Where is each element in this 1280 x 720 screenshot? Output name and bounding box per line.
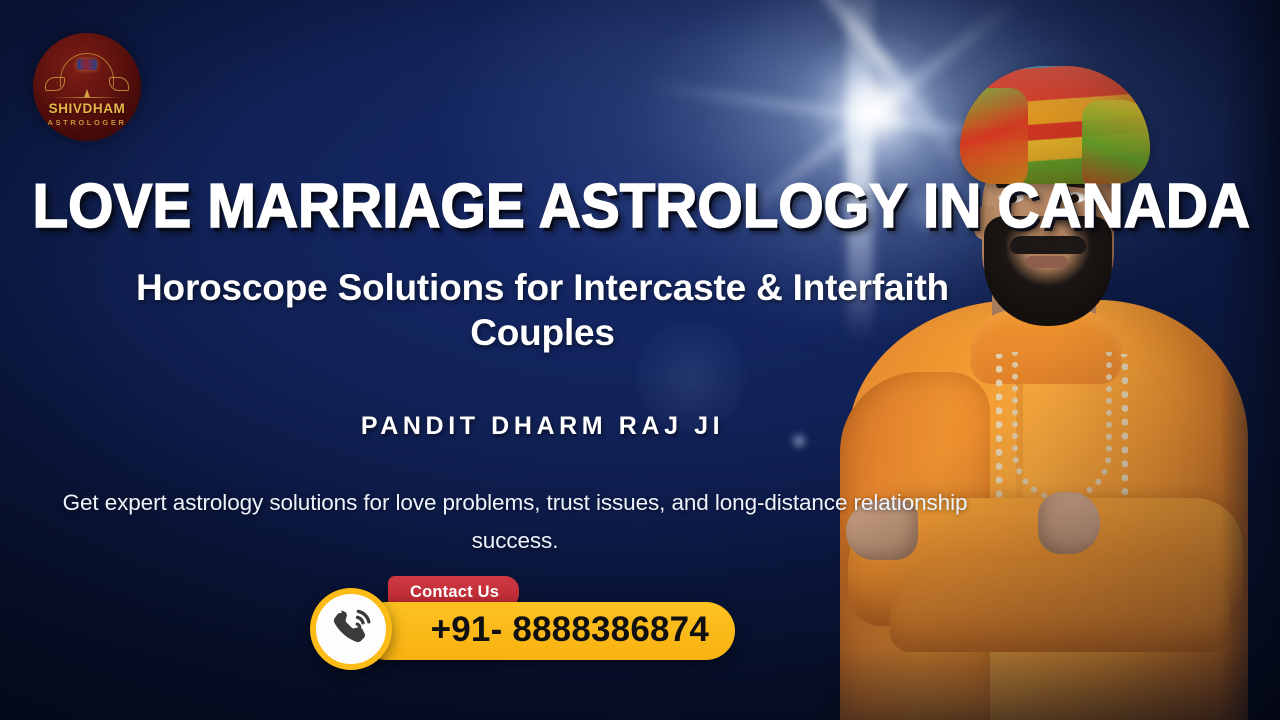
hero-description: Get expert astrology solutions for love … <box>50 484 980 561</box>
contact-cta[interactable]: Contact Us +91- 8888386874 <box>310 576 735 668</box>
phone-number-text: +91- 8888386874 <box>431 610 709 652</box>
logo-gem-icon <box>77 59 97 70</box>
logo-brand-subtitle: ASTROLOGER <box>33 118 141 127</box>
phone-number-pill[interactable]: +91- 8888386874 <box>358 602 735 660</box>
logo-brand-name: SHIVDHAM <box>33 101 141 116</box>
logo-divider <box>53 97 121 98</box>
astrologer-name: PANDIT DHARM RAJ JI <box>60 412 1025 441</box>
phone-call-icon[interactable] <box>310 588 392 670</box>
page-title: LOVE MARRIAGE ASTROLOGY IN CANADA <box>33 176 1053 238</box>
hero-banner: SHIVDHAM ASTROLOGER LOVE MARRIAGE ASTROL… <box>0 0 1280 720</box>
shivdham-logo[interactable]: SHIVDHAM ASTROLOGER <box>33 33 141 141</box>
hero-subtitle: Horoscope Solutions for Intercaste & Int… <box>60 265 1025 355</box>
